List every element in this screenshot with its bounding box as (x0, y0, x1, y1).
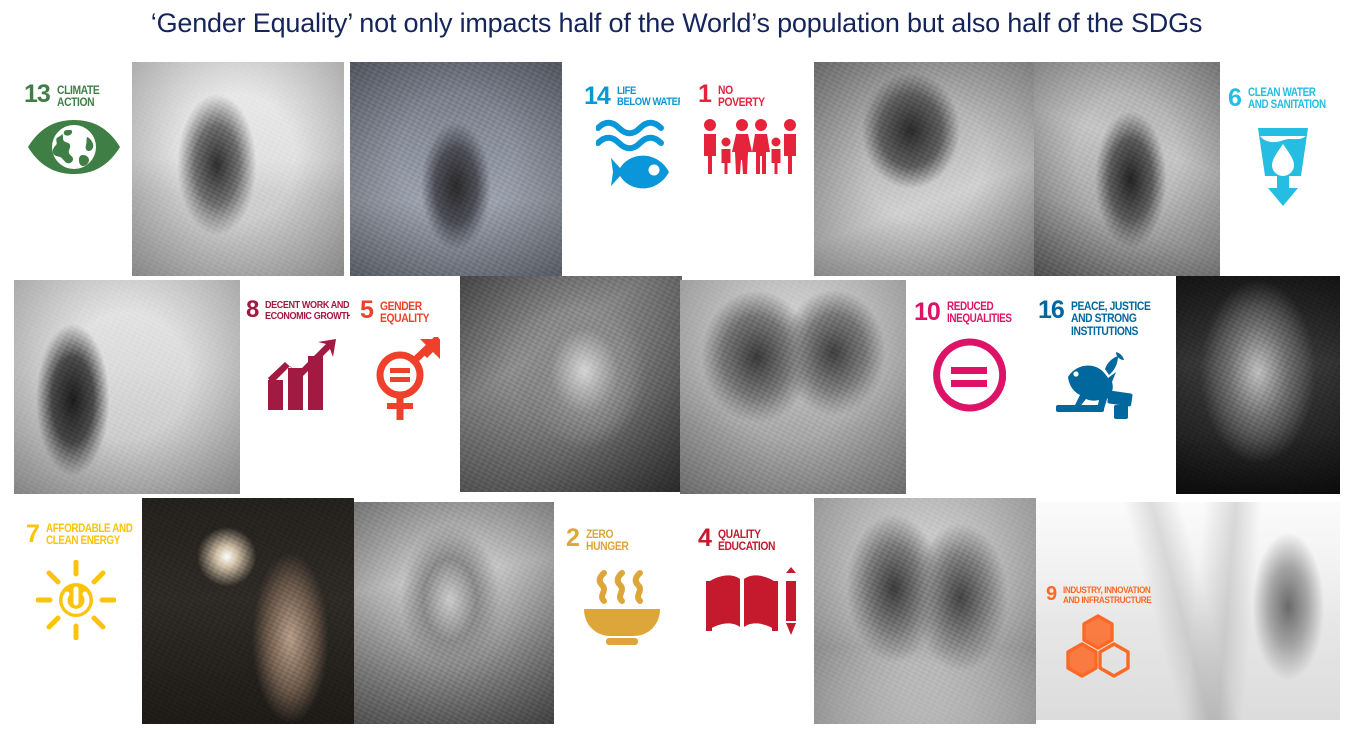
fish-waves-icon (596, 118, 680, 190)
sdg-16-title: PEACE, JUSTICE AND STRONG INSTITUTIONS (1071, 300, 1167, 337)
tile-sdg-14: 14 LIFE BELOW WATER (562, 62, 680, 276)
photo-woman-under-lamp (142, 498, 354, 724)
cubes-icon (1064, 614, 1183, 678)
tile-sdg-8: 8 DECENT WORK AND ECONOMIC GROWTH (240, 280, 350, 494)
sdg-9-heading: 9 INDUSTRY, INNOVATION AND INFRASTRUCTUR… (1046, 586, 1183, 606)
sdg-2-title: ZERO HUNGER (586, 528, 655, 553)
sdg-badge-4: 4 QUALITY EDUCATION (698, 528, 808, 637)
photo-child-eating (354, 502, 554, 724)
sdg-badge-5: 5 GENDER EQUALITY (360, 300, 460, 423)
sdg-1-title: NO POVERTY (718, 84, 790, 109)
sdg-badge-6: 6 CLEAN WATER AND SANITATION (1228, 88, 1340, 208)
sdg-5-heading: 5 GENDER EQUALITY (360, 300, 460, 325)
sdg-10-number: 10 (914, 302, 940, 324)
sdg-13-number: 13 (24, 84, 50, 106)
sdg-1-heading: 1 NO POVERTY (698, 84, 802, 109)
photo-carrying-water (1034, 62, 1220, 276)
sdg-5-number: 5 (360, 300, 373, 322)
sdg-1-number: 1 (698, 84, 711, 106)
tile-sdg-4: 4 QUALITY EDUCATION (680, 502, 814, 720)
tile-sdg-2: 2 ZERO HUNGER (554, 502, 680, 720)
sdg-8-number: 8 (246, 300, 258, 321)
sdg-6-number: 6 (1228, 88, 1241, 110)
sdg-16-heading: 16 PEACE, JUSTICE AND STRONG INSTITUTION… (1038, 300, 1176, 337)
tile-sdg-5: 5 GENDER EQUALITY (350, 280, 460, 494)
sun-power-icon (36, 560, 142, 640)
sdg-9-number: 9 (1046, 586, 1056, 603)
sdg-9-title: INDUSTRY, INNOVATION AND INFRASTRUCTURE (1063, 586, 1166, 606)
sdg-14-heading: 14 LIFE BELOW WATER (584, 86, 680, 109)
sdg-badge-16: 16 PEACE, JUSTICE AND STRONG INSTITUTION… (1038, 300, 1176, 421)
tile-sdg-1: 1 NO POVERTY (680, 62, 814, 276)
sdg-4-heading: 4 QUALITY EDUCATION (698, 528, 808, 553)
growth-chart-icon (266, 336, 350, 410)
gender-equality-icon (370, 337, 460, 423)
sdg-collage-grid: 13 CLIMATE ACTION 14 LIFE BELOW WATER (14, 62, 1340, 724)
sdg-7-number: 7 (26, 524, 39, 546)
sdg-badge-8: 8 DECENT WORK AND ECONOMIC GROWTH (246, 300, 350, 410)
sdg-7-heading: 7 AFFORDABLE AND CLEAN ENERGY (26, 524, 142, 548)
tile-sdg-13: 13 CLIMATE ACTION (14, 62, 132, 276)
sdg-badge-9: 9 INDUSTRY, INNOVATION AND INFRASTRUCTUR… (1046, 586, 1183, 678)
sdg-2-number: 2 (566, 528, 579, 550)
sdg-7-title: AFFORDABLE AND CLEAN ENERGY (46, 524, 135, 548)
sdg-6-title: CLEAN WATER AND SANITATION (1248, 88, 1337, 112)
tile-sdg-6: 6 CLEAN WATER AND SANITATION (1220, 62, 1340, 276)
sdg-4-title: QUALITY EDUCATION (718, 528, 795, 553)
sdg-4-number: 4 (698, 528, 711, 550)
photo-woman-by-wall (132, 62, 344, 276)
sdg-6-heading: 6 CLEAN WATER AND SANITATION (1228, 88, 1340, 112)
photo-crying-woman-face (1176, 276, 1340, 494)
family-group-icon (700, 118, 802, 174)
sdg-14-number: 14 (584, 86, 610, 108)
tile-sdg-9: 9 INDUSTRY, INNOVATION AND INFRASTRUCTUR… (1036, 502, 1184, 720)
sdg-13-heading: 13 CLIMATE ACTION (24, 84, 132, 109)
globe-eye-icon (26, 118, 132, 176)
sdg-8-title: DECENT WORK AND ECONOMIC GROWTH (265, 300, 350, 322)
page-title: ‘Gender Equality’ not only impacts half … (0, 8, 1353, 39)
sdg-badge-7: 7 AFFORDABLE AND CLEAN ENERGY (26, 524, 142, 640)
sdg-badge-2: 2 ZERO HUNGER (566, 528, 666, 645)
tile-sdg-16: 16 PEACE, JUSTICE AND STRONG INSTITUTION… (1028, 280, 1176, 494)
tile-sdg-10: 10 REDUCED INEQUALITIES (906, 280, 1028, 494)
sdg-16-number: 16 (1038, 300, 1064, 322)
sdg-8-heading: 8 DECENT WORK AND ECONOMIC GROWTH (246, 300, 350, 322)
photo-two-schoolboys (680, 280, 906, 494)
water-glass-arrow-icon (1250, 124, 1340, 208)
book-pencil-icon (706, 567, 808, 637)
sdg-10-title: REDUCED INEQUALITIES (947, 302, 1028, 326)
equals-circle-icon (932, 338, 1028, 412)
steaming-bowl-icon (580, 565, 666, 645)
sdg-badge-1: 1 NO POVERTY (698, 84, 802, 174)
photo-smiling-woman (460, 276, 682, 492)
sdg-13-title: CLIMATE ACTION (57, 84, 126, 109)
sdg-10-heading: 10 REDUCED INEQUALITIES (914, 302, 1028, 326)
tile-sdg-7: 7 AFFORDABLE AND CLEAN ENERGY (14, 502, 142, 720)
sdg-badge-13: 13 CLIMATE ACTION (24, 84, 132, 176)
photo-woman-washing-street (814, 62, 1034, 276)
photo-fisher-with-basket (350, 62, 562, 276)
sdg-badge-14: 14 LIFE BELOW WATER (584, 86, 680, 190)
photo-schoolgirls-writing (814, 498, 1036, 724)
sdg-5-title: GENDER EQUALITY (380, 300, 451, 325)
dove-gavel-icon (1048, 347, 1176, 421)
sdg-2-heading: 2 ZERO HUNGER (566, 528, 666, 553)
sdg-14-title: LIFE BELOW WATER (617, 86, 680, 109)
sdg-badge-10: 10 REDUCED INEQUALITIES (914, 302, 1028, 412)
photo-professional-woman (14, 280, 240, 494)
